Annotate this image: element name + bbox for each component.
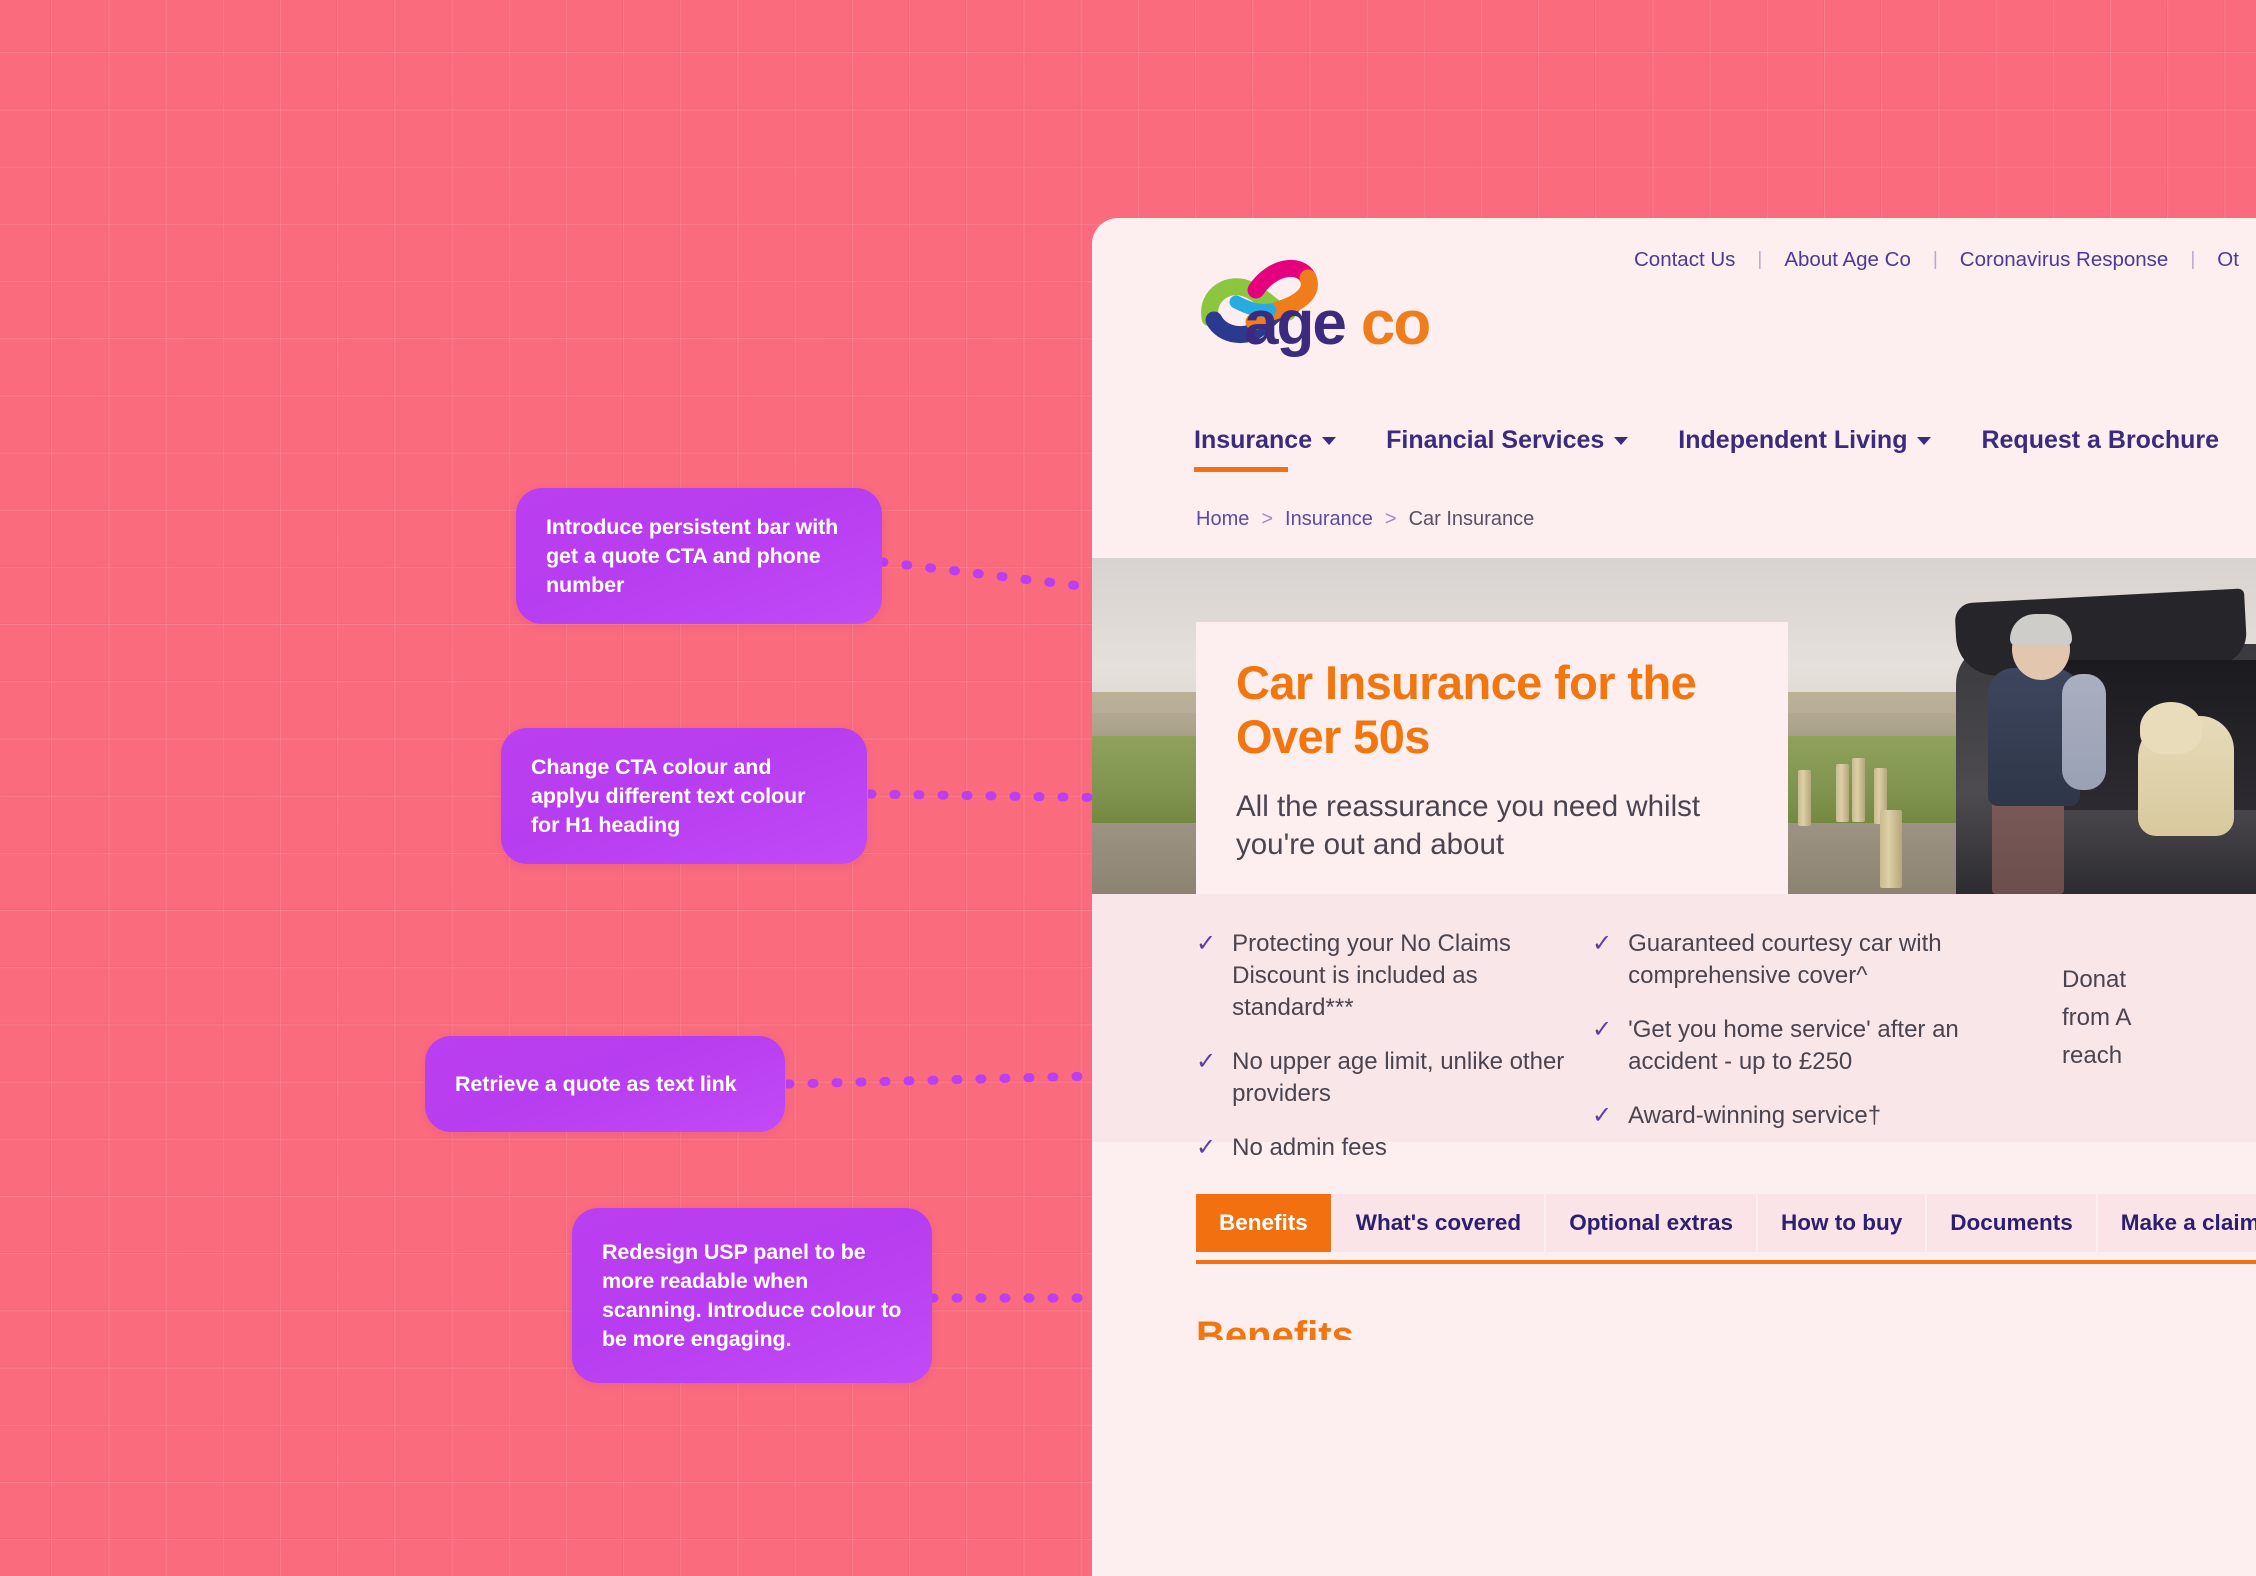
hero-photo-subject (1926, 604, 2256, 894)
check-icon: ✓ (1592, 1014, 1612, 1046)
annotation-note-usp-panel[interactable]: Redesign USP panel to be more readable w… (572, 1208, 932, 1383)
content-tabs: Benefits What's covered Optional extras … (1196, 1194, 2256, 1252)
breadcrumb-item-car-insurance: Car Insurance (1409, 508, 1535, 531)
website-mockup: Contact Us | About Age Co | Coronavirus … (1092, 218, 2256, 1576)
tab-benefits[interactable]: Benefits (1196, 1194, 1333, 1252)
hero-person-legs (1992, 798, 2064, 894)
logo-wordmark: ageco (1244, 288, 1429, 359)
nav-item-request-a-brochure[interactable]: Request a Brochure (1981, 426, 2247, 455)
tab-how-to-buy[interactable]: How to buy (1758, 1194, 1927, 1252)
hero-subtitle: All the reassurance you need whilst you'… (1236, 788, 1748, 864)
usp-text: No upper age limit, unlike other provide… (1232, 1046, 1574, 1110)
usp-item: ✓ No admin fees (1196, 1132, 1574, 1164)
hero-content-card: Car Insurance for the Over 50s All the r… (1196, 622, 1788, 894)
usp-column-3-donation: Donat from A reach (2062, 928, 2256, 1142)
check-icon: ✓ (1196, 1046, 1216, 1078)
usp-panel: ✓ Protecting your No Claims Discount is … (1092, 894, 2256, 1142)
usp-text: 'Get you home service' after an accident… (1628, 1014, 2044, 1078)
check-icon: ✓ (1196, 928, 1216, 960)
hero-tree-post (1836, 764, 1849, 822)
tab-optional-extras[interactable]: Optional extras (1546, 1194, 1758, 1252)
logo-text-age: age (1244, 289, 1345, 358)
logo-text-co: co (1361, 289, 1429, 358)
utility-link-other[interactable]: Ot (2195, 248, 2256, 272)
donation-line-1: Donat (2062, 964, 2238, 996)
annotation-note-cta-colour[interactable]: Change CTA colour and applyu different t… (501, 728, 867, 864)
usp-item: ✓ Guaranteed courtesy car with comprehen… (1592, 928, 2044, 992)
nav-item-financial-services[interactable]: Financial Services (1386, 426, 1656, 455)
breadcrumb-item-insurance[interactable]: Insurance (1285, 508, 1373, 531)
chevron-down-icon (1614, 437, 1628, 445)
chevron-down-icon (1917, 437, 1931, 445)
usp-text: Guaranteed courtesy car with comprehensi… (1628, 928, 2044, 992)
usp-column-1: ✓ Protecting your No Claims Discount is … (1092, 928, 1592, 1142)
tabs-underline (1196, 1260, 2256, 1264)
check-icon: ✓ (1196, 1132, 1216, 1164)
tab-whats-covered[interactable]: What's covered (1333, 1194, 1546, 1252)
nav-label: Insurance (1194, 426, 1312, 455)
tab-documents[interactable]: Documents (1927, 1194, 2098, 1252)
usp-item: ✓ Award-winning service† (1592, 1100, 2044, 1132)
usp-item: ✓ No upper age limit, unlike other provi… (1196, 1046, 1574, 1110)
hero-person-arm (2062, 674, 2106, 790)
breadcrumb-separator: > (1261, 508, 1273, 531)
nav-label: Financial Services (1386, 426, 1604, 455)
check-icon: ✓ (1592, 928, 1612, 960)
hero-banner: Car Insurance for the Over 50s All the r… (1092, 558, 2256, 894)
usp-text: Award-winning service† (1628, 1100, 1881, 1132)
annotation-note-persistent-bar[interactable]: Introduce persistent bar with get a quot… (516, 488, 882, 624)
design-canvas: Introduce persistent bar with get a quot… (0, 0, 2256, 1576)
usp-item: ✓ 'Get you home service' after an accide… (1592, 1014, 2044, 1078)
breadcrumb: Home > Insurance > Car Insurance (1196, 508, 1534, 531)
hero-tree-post (1852, 758, 1865, 822)
donation-line-2: from A (2062, 1002, 2238, 1034)
usp-item: ✓ Protecting your No Claims Discount is … (1196, 928, 1574, 1024)
breadcrumb-separator: > (1385, 508, 1397, 531)
nav-item-insurance[interactable]: Insurance (1194, 426, 1364, 455)
annotation-note-retrieve-quote-link[interactable]: Retrieve a quote as text link (425, 1036, 785, 1132)
donation-line-3: reach (2062, 1040, 2238, 1072)
nav-label: Request a Brochure (1981, 426, 2219, 455)
check-icon: ✓ (1592, 1100, 1612, 1132)
chevron-down-icon (1322, 437, 1336, 445)
usp-text: Protecting your No Claims Discount is in… (1232, 928, 1574, 1024)
nav-label: Independent Living (1678, 426, 1907, 455)
section-heading-benefits: Benefits (1196, 1314, 1354, 1340)
hero-tree-post-front (1880, 810, 1902, 888)
breadcrumb-item-home[interactable]: Home (1196, 508, 1249, 531)
nav-item-independent-living[interactable]: Independent Living (1678, 426, 1959, 455)
usp-text: No admin fees (1232, 1132, 1387, 1164)
utility-nav: Contact Us | About Age Co | Coronavirus … (1612, 248, 2256, 272)
utility-link-about-age-co[interactable]: About Age Co (1762, 248, 1933, 272)
tab-make-a-claim[interactable]: Make a claim (2098, 1194, 2256, 1252)
usp-column-2: ✓ Guaranteed courtesy car with comprehen… (1592, 928, 2062, 1142)
age-co-logo[interactable]: ageco (1196, 250, 1486, 358)
hero-dog-head (2140, 702, 2202, 754)
main-nav: Insurance Financial Services Independent… (1194, 426, 2256, 455)
page-title: Car Insurance for the Over 50s (1236, 656, 1748, 764)
utility-link-contact-us[interactable]: Contact Us (1612, 248, 1757, 272)
hero-person-hair (2010, 614, 2072, 646)
utility-link-coronavirus-response[interactable]: Coronavirus Response (1938, 248, 2191, 272)
hero-tree-post (1798, 770, 1811, 826)
